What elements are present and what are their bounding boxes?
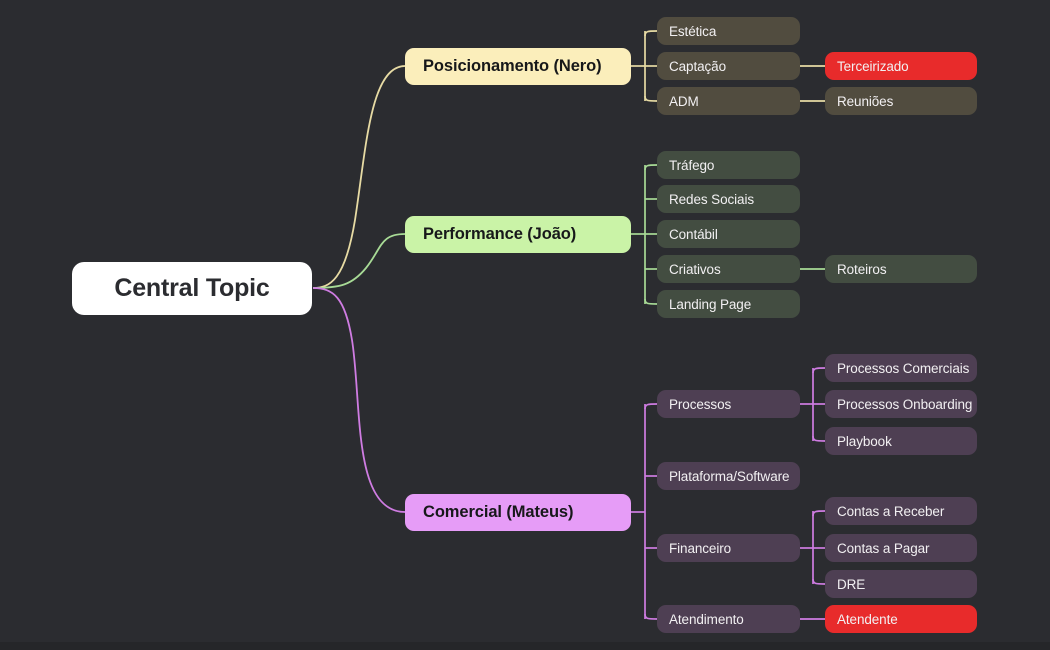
node-processos[interactable]: Processos bbox=[657, 390, 800, 418]
node-posicionamento[interactable]: Posicionamento (Nero) bbox=[405, 48, 631, 85]
edge-financeiro-receber bbox=[813, 511, 825, 516]
node-financeiro[interactable]: Financeiro bbox=[657, 534, 800, 562]
node-label: Contas a Receber bbox=[837, 504, 944, 519]
node-label: DRE bbox=[837, 577, 865, 592]
node-label: Financeiro bbox=[669, 541, 731, 556]
node-processos-onboarding[interactable]: Processos Onboarding bbox=[825, 390, 977, 418]
node-contabil[interactable]: Contábil bbox=[657, 220, 800, 248]
edge-processos-comerciais bbox=[813, 368, 825, 373]
node-label: Estética bbox=[669, 24, 716, 39]
node-label: Contas a Pagar bbox=[837, 541, 929, 556]
node-landing-page[interactable]: Landing Page bbox=[657, 290, 800, 318]
node-plataforma-software[interactable]: Plataforma/Software bbox=[657, 462, 800, 490]
node-label: Central Topic bbox=[114, 274, 269, 303]
node-label: Redes Sociais bbox=[669, 192, 754, 207]
edge-financeiro-dre bbox=[813, 579, 825, 584]
node-label: Roteiros bbox=[837, 262, 886, 277]
node-label: Landing Page bbox=[669, 297, 751, 312]
edge-root-posicionamento bbox=[313, 66, 405, 288]
node-comercial[interactable]: Comercial (Mateus) bbox=[405, 494, 631, 531]
node-atendente[interactable]: Atendente bbox=[825, 605, 977, 633]
edge-processos-playbook bbox=[813, 436, 825, 441]
edge-root-comercial bbox=[313, 288, 405, 512]
node-label: Criativos bbox=[669, 262, 721, 277]
node-dre[interactable]: DRE bbox=[825, 570, 977, 598]
node-central-topic[interactable]: Central Topic bbox=[72, 262, 312, 315]
node-label: Processos bbox=[669, 397, 731, 412]
node-label: Tráfego bbox=[669, 158, 714, 173]
node-estetica[interactable]: Estética bbox=[657, 17, 800, 45]
node-label: Atendimento bbox=[669, 612, 744, 627]
node-performance[interactable]: Performance (João) bbox=[405, 216, 631, 253]
node-label: Contábil bbox=[669, 227, 718, 242]
node-label: Posicionamento (Nero) bbox=[423, 57, 602, 76]
node-label: Captação bbox=[669, 59, 726, 74]
edge-performance-trafego bbox=[645, 165, 657, 170]
mindmap-canvas: Central Topic Posicionamento (Nero) Esté… bbox=[0, 0, 1050, 650]
node-atendimento[interactable]: Atendimento bbox=[657, 605, 800, 633]
node-terceirizado[interactable]: Terceirizado bbox=[825, 52, 977, 80]
edge-comercial-processos bbox=[645, 404, 657, 409]
node-label: Comercial (Mateus) bbox=[423, 503, 573, 522]
node-label: Plataforma/Software bbox=[669, 469, 789, 484]
edge-comercial-atendimento bbox=[645, 614, 657, 619]
node-label: Processos Comerciais bbox=[837, 361, 969, 376]
node-adm[interactable]: ADM bbox=[657, 87, 800, 115]
node-label: Processos Onboarding bbox=[837, 397, 972, 412]
node-roteiros[interactable]: Roteiros bbox=[825, 255, 977, 283]
node-label: Playbook bbox=[837, 434, 892, 449]
node-playbook[interactable]: Playbook bbox=[825, 427, 977, 455]
node-redes-sociais[interactable]: Redes Sociais bbox=[657, 185, 800, 213]
node-label: Performance (João) bbox=[423, 225, 576, 244]
node-label: ADM bbox=[669, 94, 699, 109]
node-contas-a-pagar[interactable]: Contas a Pagar bbox=[825, 534, 977, 562]
canvas-bottom-band bbox=[0, 642, 1050, 650]
node-label: Reuniões bbox=[837, 94, 893, 109]
node-contas-a-receber[interactable]: Contas a Receber bbox=[825, 497, 977, 525]
node-reunioes[interactable]: Reuniões bbox=[825, 87, 977, 115]
node-criativos[interactable]: Criativos bbox=[657, 255, 800, 283]
node-trafego[interactable]: Tráfego bbox=[657, 151, 800, 179]
edge-root-performance bbox=[313, 234, 405, 288]
node-processos-comerciais[interactable]: Processos Comerciais bbox=[825, 354, 977, 382]
node-captacao[interactable]: Captação bbox=[657, 52, 800, 80]
node-label: Atendente bbox=[837, 612, 898, 627]
edge-performance-landing bbox=[645, 299, 657, 304]
edge-posicionamento-adm bbox=[645, 96, 657, 101]
node-label: Terceirizado bbox=[837, 59, 909, 74]
edge-posicionamento-estetica bbox=[645, 31, 657, 36]
